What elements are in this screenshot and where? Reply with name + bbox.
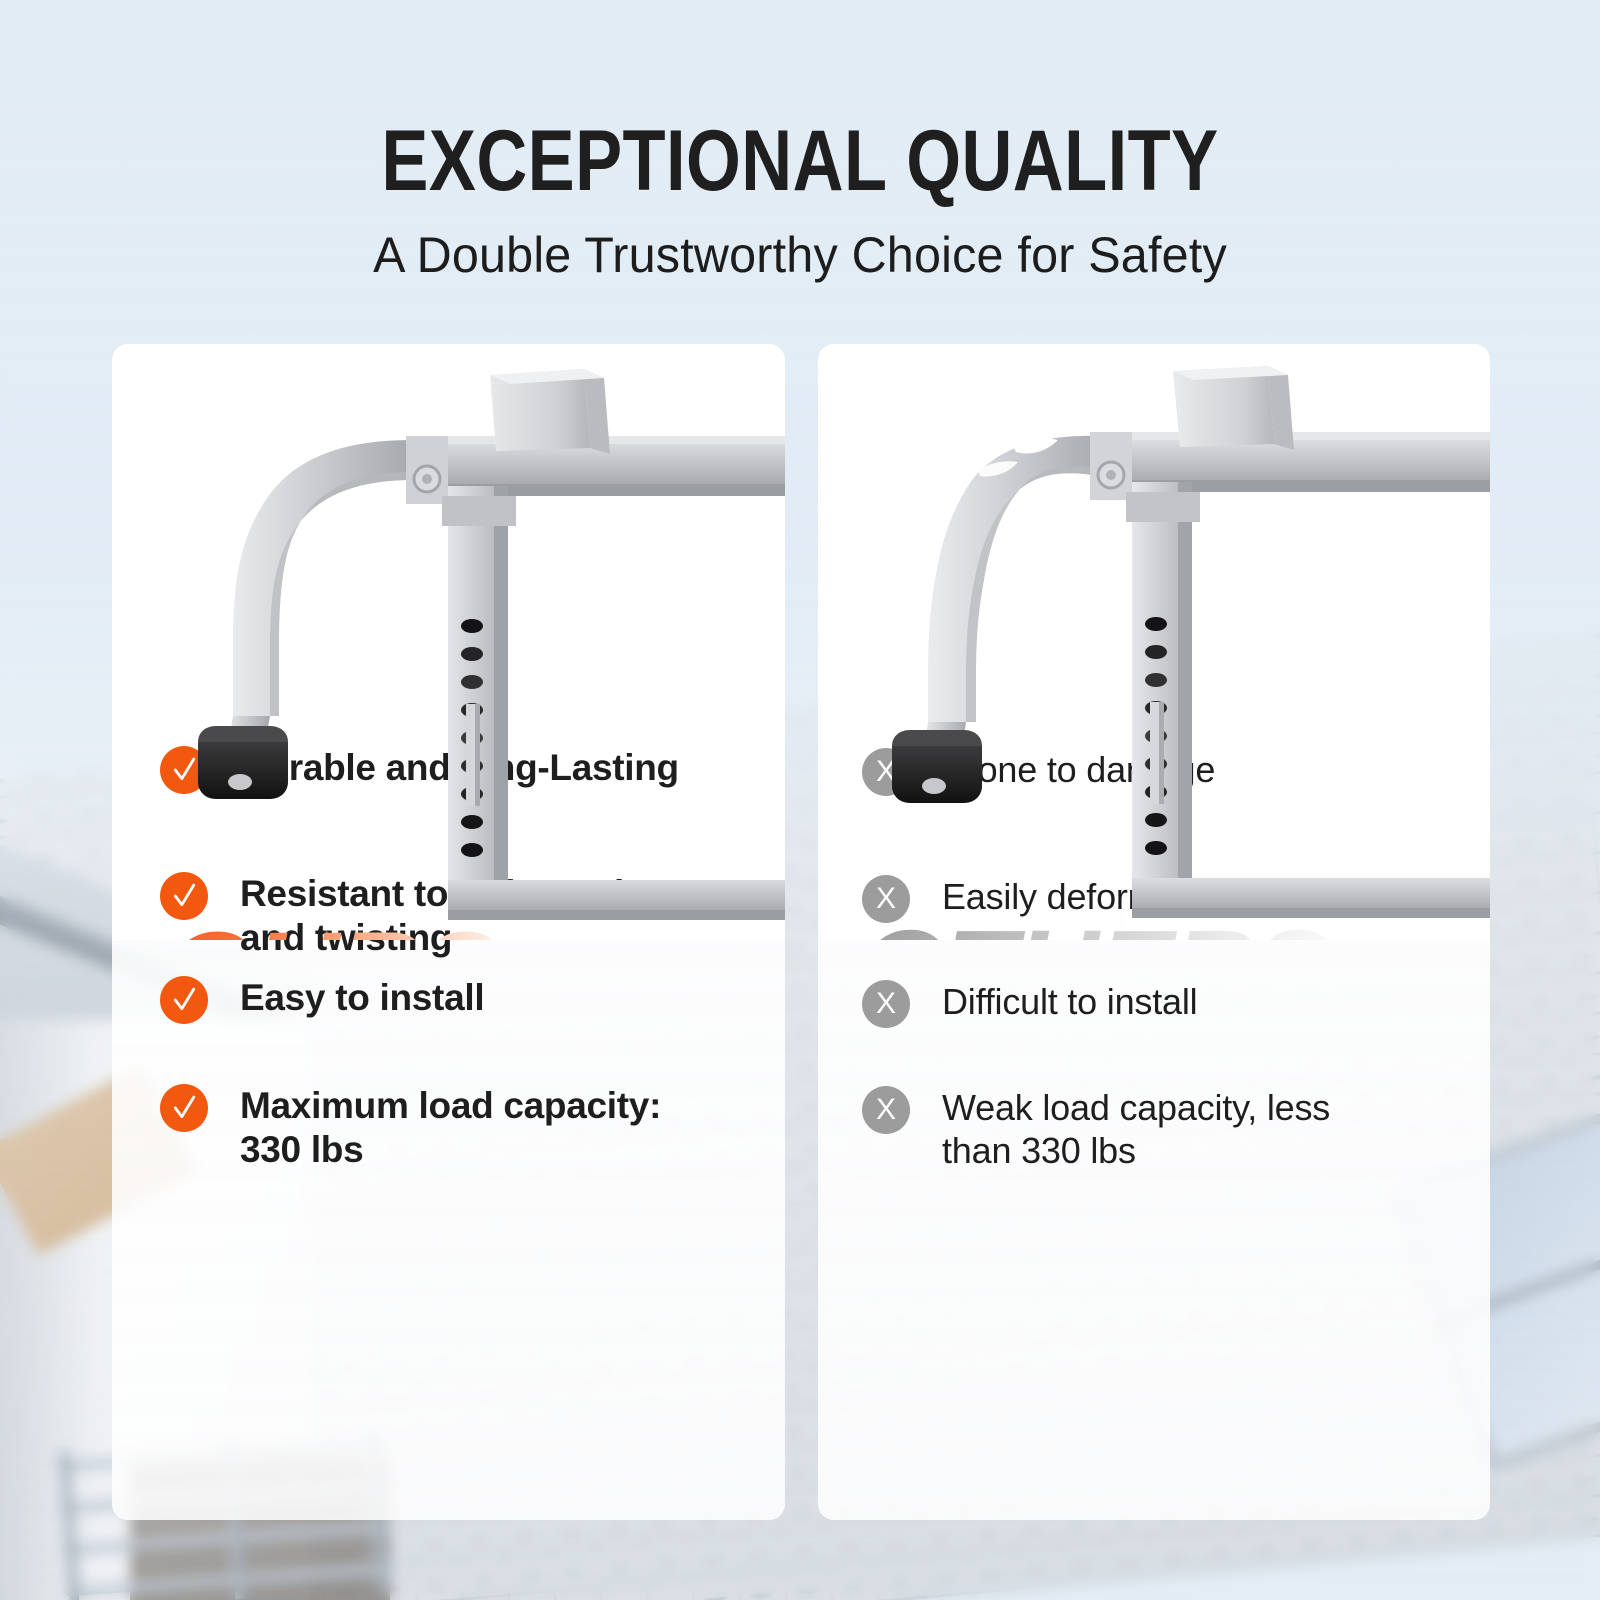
feature-item: Maximum load capacity: 330 lbs (160, 1084, 672, 1171)
feature-item: X Weak load capacity, less than 330 lbs (862, 1086, 1362, 1172)
feature-label: Maximum load capacity: 330 lbs (240, 1084, 672, 1171)
header: EXCEPTIONAL QUALITY A Double Trustworthy… (0, 0, 1600, 284)
feature-label: Difficult to install (942, 980, 1197, 1023)
page-title: EXCEPTIONAL QUALITY (144, 0, 1456, 204)
x-icon: X (862, 1086, 910, 1134)
x-icon: X (862, 980, 910, 1028)
page-subtitle: A Double Trustworthy Choice for Safety (24, 204, 1576, 284)
feature-item: X Difficult to install (862, 980, 1197, 1028)
product-photo-others: OTHERS (818, 344, 1490, 940)
check-icon (160, 976, 208, 1024)
check-icon (160, 1084, 208, 1132)
feature-item: Easy to install (160, 976, 484, 1024)
comparison-panel-ours: OURS (112, 344, 785, 1520)
bracket-illustration-ours (112, 344, 785, 940)
feature-label: Weak load capacity, less than 330 lbs (942, 1086, 1362, 1172)
feature-label: Easy to install (240, 976, 484, 1020)
product-photo-ours: OURS (112, 344, 785, 940)
comparison-panel-others: OTHERS (818, 344, 1490, 1520)
bracket-illustration-others (818, 344, 1490, 940)
